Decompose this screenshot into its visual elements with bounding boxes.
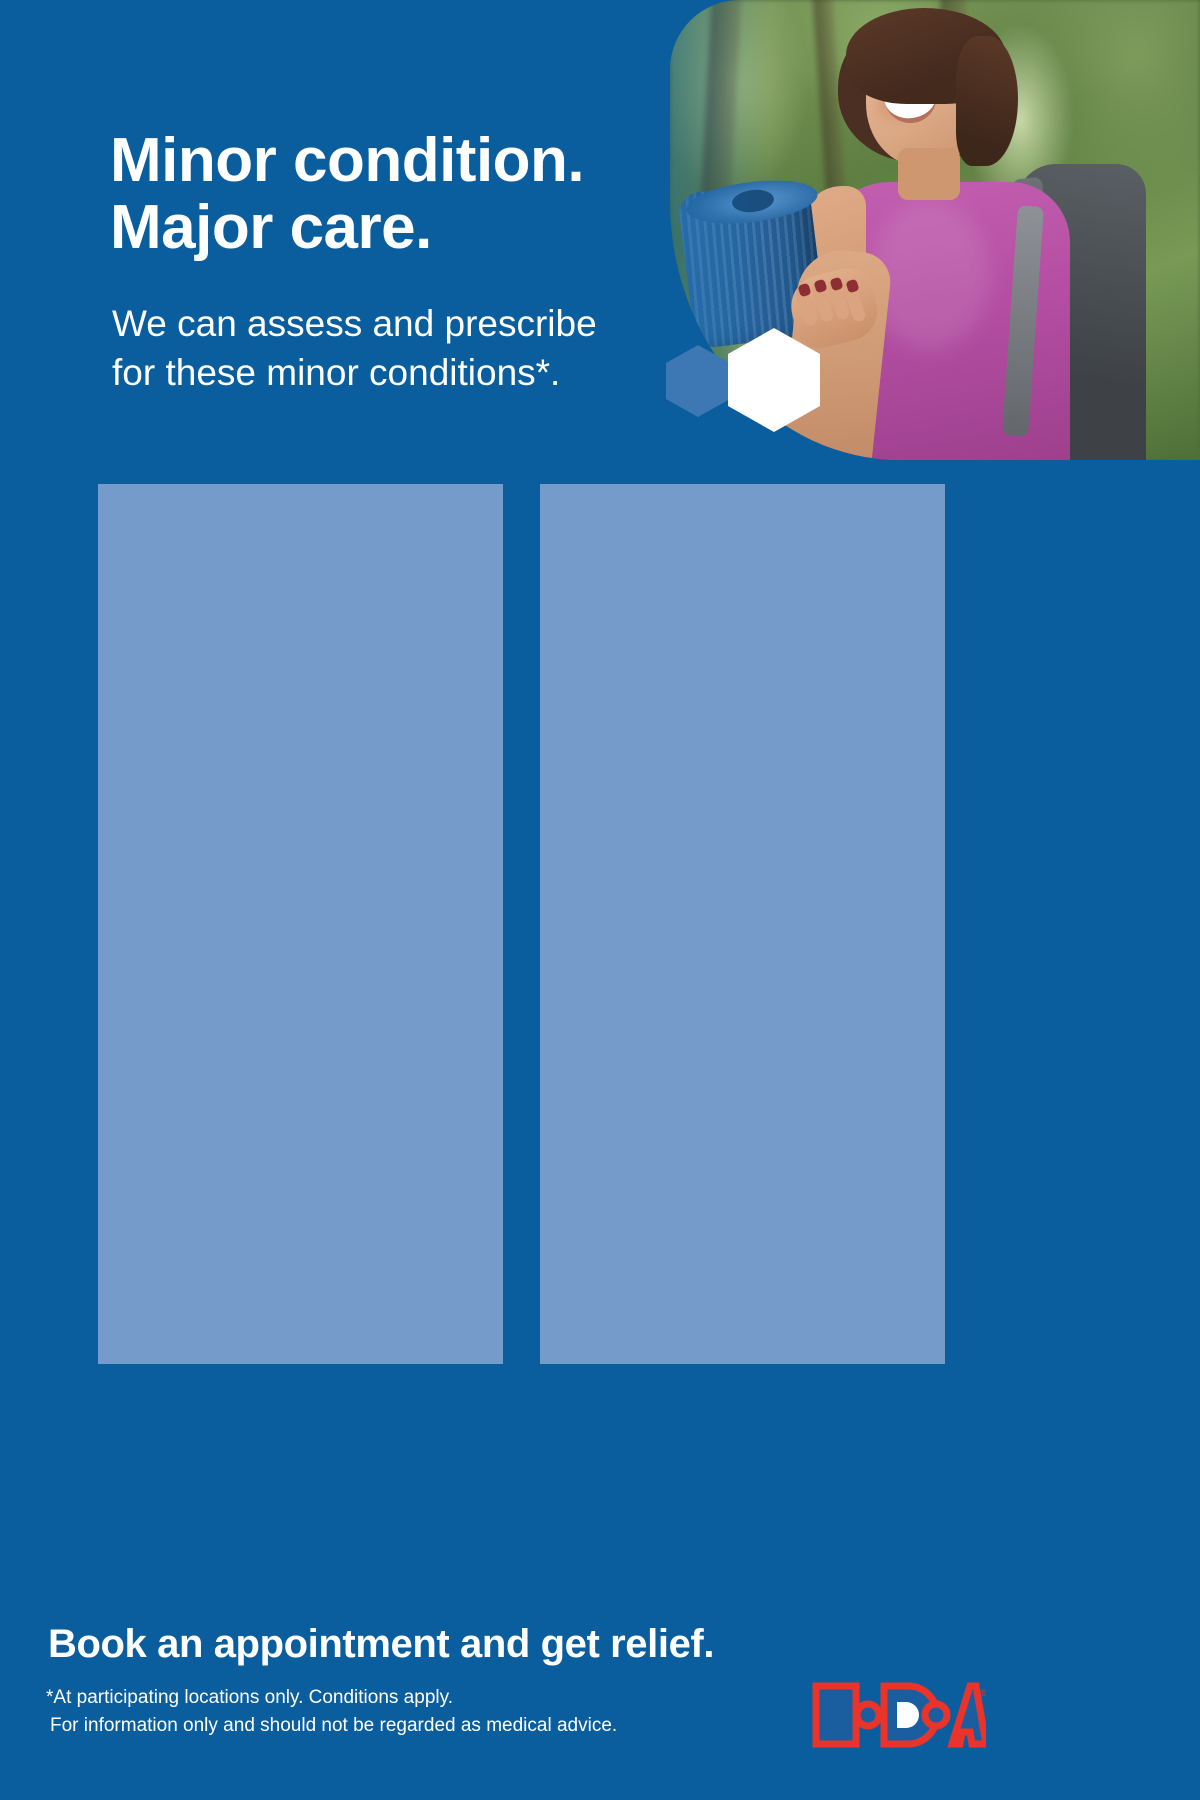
headline: Minor condition. Major care. — [110, 128, 690, 262]
headline-line-2: Major care. — [110, 195, 690, 262]
neck — [898, 148, 960, 200]
footer-fine-print: *At participating locations only. Condit… — [46, 1684, 617, 1739]
conditions-panel-right — [540, 484, 945, 1364]
ida-logo: ® — [812, 1682, 986, 1748]
ida-logo-glyphs — [816, 1686, 986, 1744]
ida-logo-dot-2 — [925, 1704, 947, 1726]
subheading-line-1: We can assess and prescribe — [112, 303, 597, 344]
ida-logo-registered-mark: ® — [980, 1688, 986, 1698]
conditions-panel-left — [98, 484, 503, 1364]
fine-print-line-1: *At participating locations only. Condit… — [46, 1687, 453, 1708]
footer-cta-text: Book an appointment and get relief. — [48, 1622, 714, 1667]
subheading-line-2: for these minor conditions*. — [112, 349, 682, 398]
poster-canvas: Minor condition. Major care. We can asse… — [0, 0, 1200, 1800]
headline-line-1: Minor condition. — [110, 126, 584, 195]
hair-side — [956, 36, 1018, 166]
subheading: We can assess and prescribe for these mi… — [112, 300, 682, 398]
ida-logo-dot-1 — [857, 1704, 879, 1726]
ida-logo-letter-i — [816, 1686, 856, 1744]
fine-print-line-2: For information only and should not be r… — [46, 1712, 617, 1740]
